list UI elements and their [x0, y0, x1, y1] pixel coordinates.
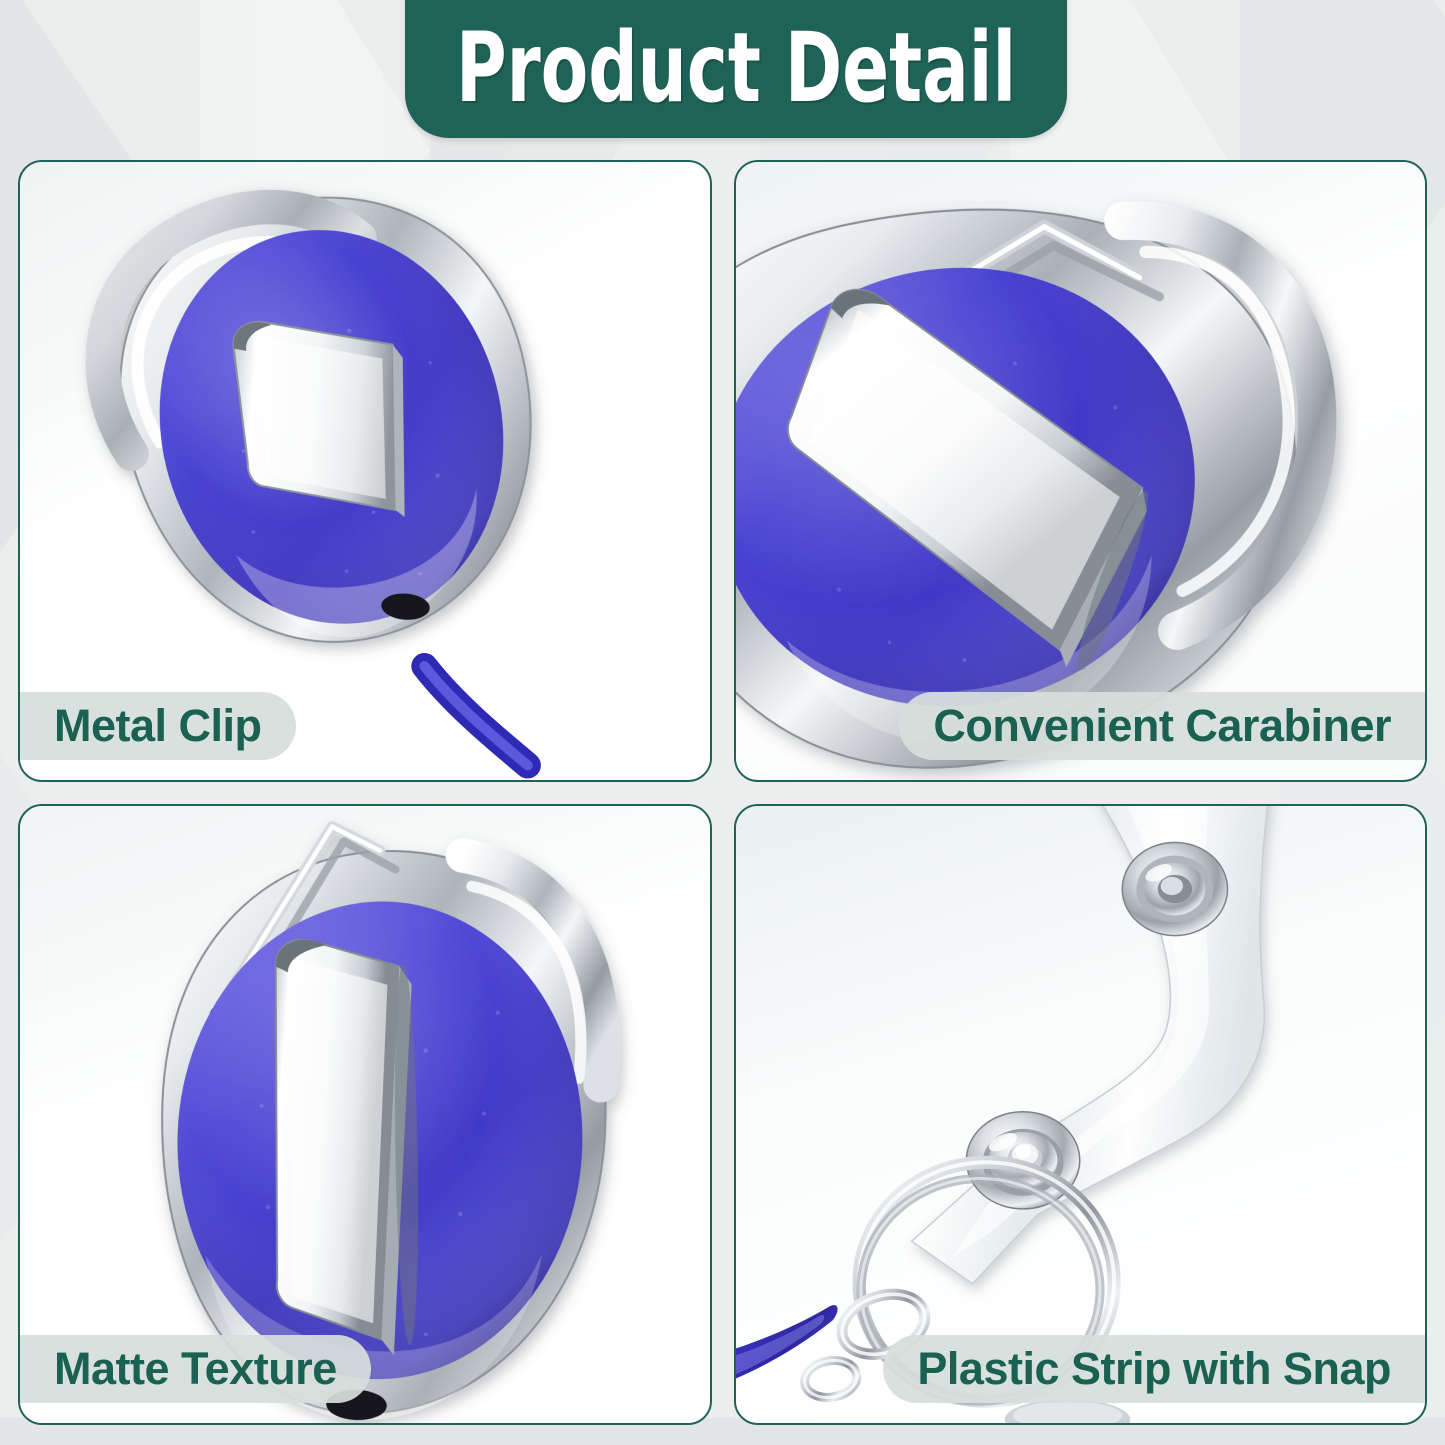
page-title: Product Detail — [456, 20, 1016, 138]
product-photo-matte-texture — [20, 806, 710, 1424]
panel-label-plastic-strip-with-snap: Plastic Strip with Snap — [883, 1335, 1427, 1403]
product-photo-plastic-strip — [736, 806, 1426, 1424]
panel-label-text: Plastic Strip with Snap — [917, 1343, 1391, 1395]
detail-panel-matte-texture[interactable]: Matte Texture — [18, 804, 712, 1426]
panel-label-text: Metal Clip — [54, 700, 262, 752]
detail-panel-convenient-carabiner[interactable]: Convenient Carabiner — [734, 160, 1428, 782]
snap-upper — [1122, 842, 1227, 935]
page-title-banner: Product Detail — [405, 0, 1067, 138]
panel-label-metal-clip: Metal Clip — [18, 692, 296, 760]
panel-label-text: Convenient Carabiner — [933, 700, 1391, 752]
detail-panel-plastic-strip-with-snap[interactable]: Plastic Strip with Snap — [734, 804, 1428, 1426]
panel-label-convenient-carabiner: Convenient Carabiner — [899, 692, 1427, 760]
detail-panel-metal-clip[interactable]: Metal Clip — [18, 160, 712, 782]
product-photo-metal-clip — [20, 162, 710, 780]
panel-label-text: Matte Texture — [54, 1343, 337, 1395]
product-detail-grid: Metal Clip — [18, 160, 1427, 1425]
panel-label-matte-texture: Matte Texture — [18, 1335, 371, 1403]
product-photo-carabiner — [736, 162, 1426, 780]
